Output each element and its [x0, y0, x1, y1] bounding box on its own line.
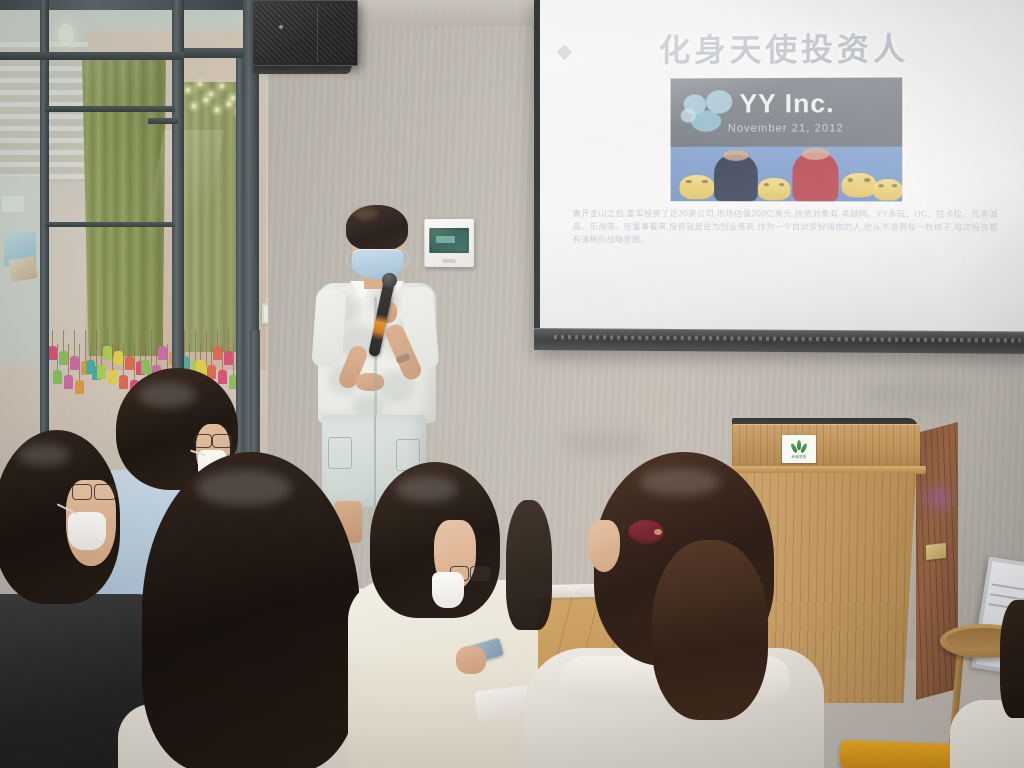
hair-highlight: [640, 468, 720, 496]
lectern-header: [732, 424, 920, 468]
hair-highlight: [138, 382, 196, 408]
glasses-icon: [194, 434, 232, 446]
plaque-text: 岭南学院: [792, 454, 807, 459]
green-leaf-icon: [791, 440, 807, 453]
hair-highlight: [18, 444, 70, 466]
slide-body-text: 离开金山之后,雷军投资了近20家公司,市场估值200亿美元,投资对象有 卓越网、…: [573, 208, 998, 248]
hair-highlight: [196, 470, 292, 506]
brass-nameplate: [926, 543, 946, 560]
face-mask-icon: [68, 512, 106, 550]
hair-highlight: [396, 476, 458, 502]
speaker-grille: [256, 4, 354, 62]
window-transom: [45, 222, 175, 227]
slide-image-card: YY Inc. November 21, 2012: [671, 78, 902, 201]
light-glow: [916, 478, 960, 518]
hair-scrunchie: [628, 520, 664, 544]
window-transom: [0, 52, 184, 60]
face-mask-icon: [432, 572, 464, 608]
audience-head: [1000, 600, 1024, 718]
audience-head: [506, 500, 552, 630]
window-transom: [148, 118, 178, 124]
institute-logo-plaque: 岭南学院: [782, 435, 816, 463]
glasses-icon: [72, 484, 116, 498]
audience-hand: [456, 646, 486, 674]
slide-title: 化身天使投资人: [550, 22, 1022, 70]
audience-ear-cheek: [588, 520, 620, 572]
presenter-left-sleeve: [311, 288, 346, 368]
screen-surface: 化身天使投资人 YY Inc. November 21, 2012: [540, 0, 1024, 331]
yy-brand-text: YY Inc.: [739, 87, 895, 119]
ponytail: [652, 540, 768, 720]
yy-date-text: November 21, 2012: [671, 122, 902, 135]
window-transom: [45, 106, 175, 112]
loudspeaker-icon: [252, 0, 358, 66]
wall-smudge: [560, 430, 650, 456]
speaker-led: [279, 25, 283, 29]
screen-bottom-bar: [534, 328, 1024, 354]
lectern-lip: [728, 466, 926, 474]
wall-smudge: [860, 380, 970, 410]
presenter-hair: [346, 205, 408, 251]
photo-scene: 化身天使投资人 YY Inc. November 21, 2012: [0, 0, 1024, 768]
speaker-seam: [317, 4, 318, 62]
yy-banner: YY Inc. November 21, 2012: [671, 78, 902, 147]
yy-photo: [671, 147, 902, 201]
presenter-left-hand: [356, 373, 384, 391]
projection-screen: 化身天使投资人 YY Inc. November 21, 2012: [534, 0, 1024, 354]
chair[interactable]: [840, 740, 961, 768]
presentation-slide: 化身天使投资人 YY Inc. November 21, 2012: [550, 2, 1022, 290]
